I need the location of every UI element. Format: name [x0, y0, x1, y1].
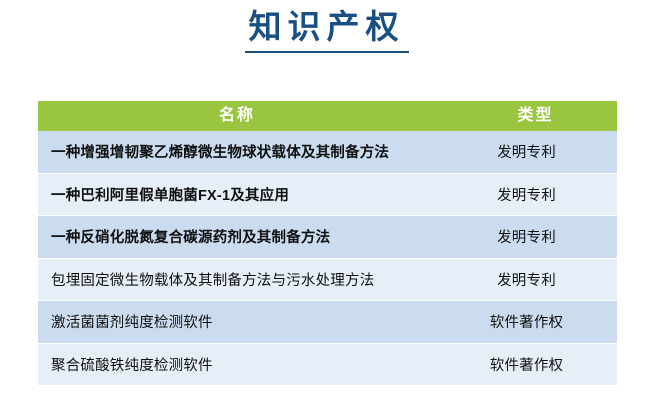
cell-name: 聚合硫酸铁纯度检测软件: [38, 343, 454, 386]
table-row: 一种巴利阿里假单胞菌FX-1及其应用 发明专利: [38, 173, 617, 216]
cell-name: 激活菌菌剂纯度检测软件: [38, 301, 454, 344]
intellectual-property-table: 名称 类型 一种增强增韧聚乙烯醇微生物球状载体及其制备方法 发明专利 一种巴利阿…: [38, 101, 617, 386]
table-row: 一种增强增韧聚乙烯醇微生物球状载体及其制备方法 发明专利: [38, 131, 617, 173]
page-title-container: 知识产权: [0, 6, 653, 53]
cell-name: 包埋固定微生物载体及其制备方法与污水处理方法: [38, 258, 454, 301]
table-row: 一种反硝化脱氮复合碳源药剂及其制备方法 发明专利: [38, 216, 617, 259]
page-title: 知识产权: [245, 6, 409, 53]
cell-type: 软件著作权: [454, 343, 617, 386]
cell-type: 发明专利: [454, 131, 617, 173]
cell-type: 发明专利: [454, 216, 617, 259]
cell-name: 一种反硝化脱氮复合碳源药剂及其制备方法: [38, 216, 454, 259]
table-row: 聚合硫酸铁纯度检测软件 软件著作权: [38, 343, 617, 386]
cell-name: 一种巴利阿里假单胞菌FX-1及其应用: [38, 173, 454, 216]
column-header-type: 类型: [454, 101, 617, 131]
cell-name: 一种增强增韧聚乙烯醇微生物球状载体及其制备方法: [38, 131, 454, 173]
table-row: 激活菌菌剂纯度检测软件 软件著作权: [38, 301, 617, 344]
column-header-name: 名称: [38, 101, 454, 131]
cell-type: 软件著作权: [454, 301, 617, 344]
cell-type: 发明专利: [454, 173, 617, 216]
cell-type: 发明专利: [454, 258, 617, 301]
table-body: 一种增强增韧聚乙烯醇微生物球状载体及其制备方法 发明专利 一种巴利阿里假单胞菌F…: [38, 131, 617, 386]
table-header: 名称 类型: [38, 101, 617, 131]
table-row: 包埋固定微生物载体及其制备方法与污水处理方法 发明专利: [38, 258, 617, 301]
table-header-row: 名称 类型: [38, 101, 617, 131]
